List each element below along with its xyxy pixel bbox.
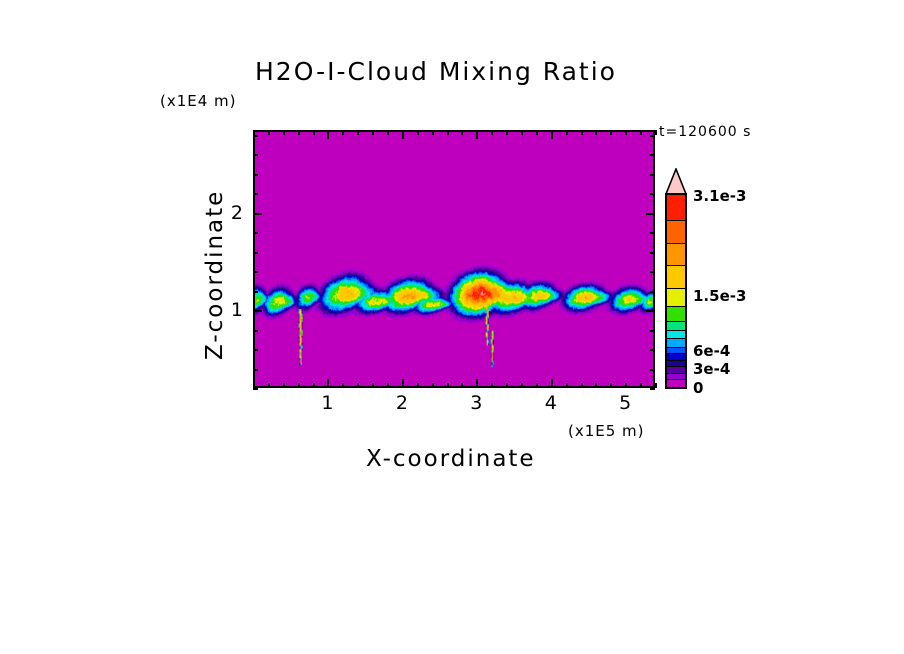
x-axis-tick xyxy=(417,130,419,135)
x-axis-tick xyxy=(476,379,478,388)
colorbar-band-divider xyxy=(667,243,685,244)
y-axis-tick xyxy=(253,252,258,254)
x-tick-label: 1 xyxy=(321,392,333,414)
x-tick-label: 3 xyxy=(470,392,482,414)
x-axis-tick xyxy=(298,383,300,388)
x-axis-tick xyxy=(387,383,389,388)
colorbar-band-divider xyxy=(667,288,685,289)
x-tick-label: 5 xyxy=(619,392,631,414)
colorbar-band xyxy=(667,266,685,288)
x-axis-tick xyxy=(432,383,434,388)
y-axis-tick xyxy=(650,154,655,156)
x-axis-tick xyxy=(461,383,463,388)
colorbar-band-divider xyxy=(667,338,685,339)
y-axis-tick xyxy=(650,291,655,293)
page-title: H2O-I-Cloud Mixing Ratio xyxy=(255,57,617,86)
x-axis-tick xyxy=(402,379,404,388)
colorbar-band-divider xyxy=(667,379,685,380)
x-axis-tick xyxy=(402,130,404,139)
colorbar-band-divider xyxy=(667,347,685,348)
colorbar-band xyxy=(667,195,685,221)
x-axis-tick xyxy=(521,383,523,388)
colorbar-tick-label: 3e-4 xyxy=(693,360,730,378)
x-axis-tick xyxy=(298,130,300,135)
plot-area xyxy=(253,130,655,388)
colorbar-band-divider xyxy=(667,366,685,367)
x-axis-tick xyxy=(625,130,627,135)
y-axis-multiplier-label: (x1E4 m) xyxy=(160,92,237,110)
x-axis-tick xyxy=(372,130,374,135)
x-axis-tick xyxy=(610,383,612,388)
x-tick-label: 2 xyxy=(396,392,408,414)
colorbar-band xyxy=(667,289,685,308)
colorbar-band-divider xyxy=(667,220,685,221)
colorbar-band-divider xyxy=(667,360,685,361)
colorbar-band-divider xyxy=(667,373,685,374)
x-axis-tick xyxy=(655,130,657,135)
x-axis-tick xyxy=(566,383,568,388)
x-axis-tick xyxy=(640,130,642,135)
y-axis-tick xyxy=(650,271,655,273)
x-axis-tick xyxy=(327,379,329,388)
colorbar-band xyxy=(667,380,685,387)
x-axis-tick xyxy=(655,383,657,388)
y-axis-tick xyxy=(650,193,655,195)
y-axis-tick xyxy=(253,271,258,273)
x-axis-tick xyxy=(327,130,329,139)
y-tick-label: 2 xyxy=(225,202,243,224)
x-axis-tick xyxy=(536,130,538,135)
y-axis-tick xyxy=(650,232,655,234)
x-axis-tick xyxy=(506,130,508,135)
x-axis-tick xyxy=(610,130,612,135)
x-axis-tick xyxy=(387,130,389,135)
x-axis-tick xyxy=(313,383,315,388)
colorbar-band xyxy=(667,244,685,266)
colorbar[interactable] xyxy=(665,193,687,389)
x-axis-tick xyxy=(268,130,270,135)
y-axis-tick xyxy=(253,388,258,390)
x-axis-tick xyxy=(283,383,285,388)
y-axis-tick xyxy=(253,310,262,312)
x-axis-tick xyxy=(491,383,493,388)
y-axis-tick xyxy=(650,174,655,176)
x-axis-tick xyxy=(447,383,449,388)
x-axis-tick xyxy=(566,130,568,135)
y-axis-tick xyxy=(646,213,655,215)
x-axis-tick xyxy=(461,130,463,135)
y-axis-tick xyxy=(253,135,258,137)
time-annotation: t=120600 s xyxy=(659,124,751,140)
y-axis-tick xyxy=(650,388,655,390)
x-axis-tick xyxy=(595,383,597,388)
x-axis-tick xyxy=(432,130,434,135)
y-axis-tick xyxy=(650,369,655,371)
y-axis-tick xyxy=(253,213,262,215)
x-axis-tick xyxy=(551,130,553,139)
y-axis-tick xyxy=(650,135,655,137)
x-axis-tick xyxy=(506,383,508,388)
y-axis-tick xyxy=(253,369,258,371)
colorbar-tick-label: 0 xyxy=(693,379,703,397)
colorbar-band-divider xyxy=(667,265,685,266)
y-tick-label: 1 xyxy=(225,299,243,321)
colorbar-tick-label: 6e-4 xyxy=(693,342,730,360)
x-axis-tick xyxy=(521,130,523,135)
x-axis-multiplier-label: (x1E5 m) xyxy=(568,422,645,440)
y-axis-tick xyxy=(646,310,655,312)
y-axis-tick xyxy=(253,349,258,351)
colorbar-band-divider xyxy=(667,321,685,322)
contour-field xyxy=(255,132,653,386)
x-axis-tick xyxy=(551,379,553,388)
x-axis-tick xyxy=(491,130,493,135)
x-axis-tick xyxy=(581,130,583,135)
y-axis-tick xyxy=(253,174,258,176)
x-axis-tick xyxy=(372,383,374,388)
colorbar-band xyxy=(667,307,685,322)
colorbar-arrow-cap xyxy=(665,168,687,195)
x-axis-tick xyxy=(342,383,344,388)
x-axis-tick xyxy=(342,130,344,135)
x-axis-tick xyxy=(283,130,285,135)
colorbar-band xyxy=(667,221,685,243)
y-axis-tick xyxy=(253,232,258,234)
x-axis-tick xyxy=(357,383,359,388)
x-axis-tick xyxy=(581,383,583,388)
y-axis-tick xyxy=(253,193,258,195)
x-axis-tick xyxy=(268,383,270,388)
x-axis-tick xyxy=(595,130,597,135)
colorbar-band-divider xyxy=(667,330,685,331)
y-axis-tick xyxy=(650,349,655,351)
colorbar-band-divider xyxy=(667,353,685,354)
x-axis-tick xyxy=(357,130,359,135)
y-axis-tick xyxy=(253,330,258,332)
x-axis-tick xyxy=(476,130,478,139)
x-axis-tick xyxy=(447,130,449,135)
x-axis-tick xyxy=(536,383,538,388)
x-axis-tick xyxy=(313,130,315,135)
colorbar-band-divider xyxy=(667,194,685,195)
x-axis-tick xyxy=(640,383,642,388)
x-axis-label: X-coordinate xyxy=(366,446,536,472)
y-axis-tick xyxy=(253,291,258,293)
x-tick-label: 4 xyxy=(545,392,557,414)
colorbar-tick-label: 1.5e-3 xyxy=(693,287,746,305)
y-axis-tick xyxy=(650,330,655,332)
x-axis-tick xyxy=(417,383,419,388)
y-axis-tick xyxy=(650,252,655,254)
y-axis-tick xyxy=(253,154,258,156)
colorbar-tick-label: 3.1e-3 xyxy=(693,187,746,205)
x-axis-tick xyxy=(625,383,627,388)
figure-canvas: H2O-I-Cloud Mixing Ratio (x1E4 m) (x1E5 … xyxy=(0,0,904,654)
colorbar-band-divider xyxy=(667,306,685,307)
